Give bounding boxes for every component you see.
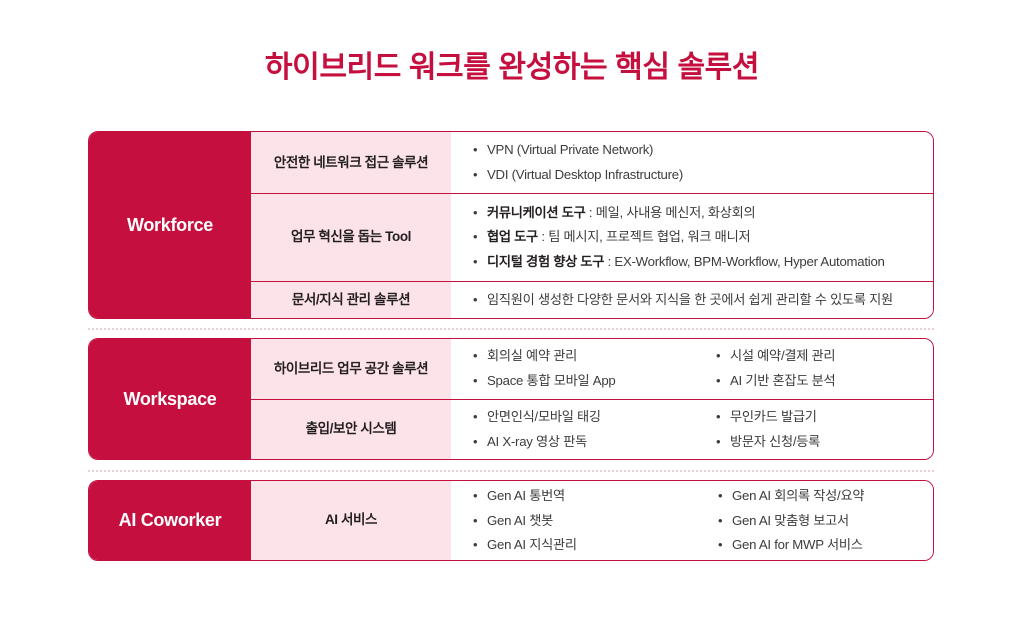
- bullet-dot-icon: •: [473, 141, 487, 160]
- row-items: •VPN (Virtual Private Network)•VDI (Virt…: [451, 132, 933, 193]
- row-category-label: AI 서비스: [251, 481, 451, 560]
- block-label: Workforce: [89, 132, 251, 318]
- bullet-item: •무인카드 발급기: [716, 407, 820, 427]
- bullet-text-rest: : EX-Workflow, BPM-Workflow, Hyper Autom…: [604, 254, 884, 269]
- bullet-column: •시설 예약/결제 관리•AI 기반 혼잡도 분석: [694, 346, 835, 391]
- bullet-column: •VPN (Virtual Private Network)•VDI (Virt…: [451, 140, 933, 185]
- bullet-dot-icon: •: [473, 291, 487, 310]
- bullet-dot-icon: •: [473, 487, 487, 506]
- bullet-item: •협업 도구 : 팀 메시지, 프로젝트 협업, 워크 매니저: [473, 227, 933, 247]
- bullet-item: •임직원이 생성한 다양한 문서와 지식을 한 곳에서 쉽게 관리할 수 있도록…: [473, 290, 933, 310]
- row-category-label: 문서/지식 관리 솔루션: [251, 282, 451, 318]
- slide-canvas: 하이브리드 워크를 완성하는 핵심 솔루션 Workforce안전한 네트워크 …: [0, 0, 1024, 618]
- solution-row: 업무 혁신을 돕는 Tool•커뮤니케이션 도구 : 메일, 사내용 메신저, …: [251, 193, 933, 280]
- bullet-dot-icon: •: [473, 204, 487, 223]
- bullet-dot-icon: •: [473, 166, 487, 185]
- row-category-label: 업무 혁신을 돕는 Tool: [251, 194, 451, 280]
- bullet-text: 무인카드 발급기: [730, 407, 817, 426]
- row-items: •커뮤니케이션 도구 : 메일, 사내용 메신저, 화상회의•협업 도구 : 팀…: [451, 194, 933, 280]
- block-label: Workspace: [89, 339, 251, 459]
- bullet-item: •Gen AI for MWP 서비스: [718, 535, 864, 555]
- bullet-text: Gen AI 챗봇: [487, 511, 553, 530]
- block-label: AI Coworker: [89, 481, 251, 560]
- bullet-text-rest: : 팀 메시지, 프로젝트 협업, 워크 매니저: [538, 229, 750, 244]
- solution-row: 하이브리드 업무 공간 솔루션•회의실 예약 관리•Space 통합 모바일 A…: [251, 339, 933, 399]
- bullet-text: 임직원이 생성한 다양한 문서와 지식을 한 곳에서 쉽게 관리할 수 있도록 …: [487, 290, 893, 309]
- block-rows: AI 서비스•Gen AI 통번역•Gen AI 챗봇•Gen AI 지식관리•…: [251, 481, 933, 560]
- block-rows: 안전한 네트워크 접근 솔루션•VPN (Virtual Private Net…: [251, 132, 933, 318]
- bullet-text: 안면인식/모바일 태깅: [487, 407, 601, 426]
- bullet-item: •시설 예약/결제 관리: [716, 346, 835, 366]
- bullet-dot-icon: •: [716, 433, 730, 452]
- bullet-text-bold: 디지털 경험 향상 도구: [487, 254, 604, 269]
- bullet-item: •안면인식/모바일 태깅: [473, 407, 694, 427]
- bullet-dot-icon: •: [718, 536, 732, 555]
- bullet-dot-icon: •: [718, 512, 732, 531]
- bullet-text: Gen AI for MWP 서비스: [732, 535, 863, 554]
- bullet-column: •안면인식/모바일 태깅•AI X-ray 영상 판독: [451, 407, 694, 452]
- bullet-text-bold: 협업 도구: [487, 229, 538, 244]
- solution-block-ai-coworker: AI CoworkerAI 서비스•Gen AI 통번역•Gen AI 챗봇•G…: [88, 480, 934, 561]
- bullet-dot-icon: •: [716, 347, 730, 366]
- page-title: 하이브리드 워크를 완성하는 핵심 솔루션: [0, 42, 1024, 86]
- bullet-item: •커뮤니케이션 도구 : 메일, 사내용 메신저, 화상회의: [473, 203, 933, 223]
- bullet-dot-icon: •: [716, 408, 730, 427]
- bullet-dot-icon: •: [473, 253, 487, 272]
- bullet-text: AI 기반 혼잡도 분석: [730, 371, 835, 390]
- bullet-dot-icon: •: [716, 372, 730, 391]
- bullet-text: 디지털 경험 향상 도구 : EX-Workflow, BPM-Workflow…: [487, 252, 885, 271]
- bullet-text: VPN (Virtual Private Network): [487, 140, 653, 159]
- solution-row: 안전한 네트워크 접근 솔루션•VPN (Virtual Private Net…: [251, 132, 933, 193]
- bullet-item: •Space 통합 모바일 App: [473, 371, 694, 391]
- bullet-dot-icon: •: [473, 408, 487, 427]
- bullet-text: 커뮤니케이션 도구 : 메일, 사내용 메신저, 화상회의: [487, 203, 755, 222]
- row-items: •안면인식/모바일 태깅•AI X-ray 영상 판독•무인카드 발급기•방문자…: [451, 400, 933, 460]
- block-rows: 하이브리드 업무 공간 솔루션•회의실 예약 관리•Space 통합 모바일 A…: [251, 339, 933, 459]
- bullet-item: •AI 기반 혼잡도 분석: [716, 371, 835, 391]
- bullet-item: •VDI (Virtual Desktop Infrastructure): [473, 165, 933, 185]
- bullet-text-rest: : 메일, 사내용 메신저, 화상회의: [585, 205, 755, 220]
- solution-block-workspace: Workspace하이브리드 업무 공간 솔루션•회의실 예약 관리•Space…: [88, 338, 934, 460]
- bullet-text: 시설 예약/결제 관리: [730, 346, 835, 365]
- solution-row: 출입/보안 시스템•안면인식/모바일 태깅•AI X-ray 영상 판독•무인카…: [251, 399, 933, 460]
- bullet-text: Space 통합 모바일 App: [487, 371, 616, 390]
- block-separator: [88, 328, 934, 330]
- row-category-label: 출입/보안 시스템: [251, 400, 451, 460]
- solution-block-workforce: Workforce안전한 네트워크 접근 솔루션•VPN (Virtual Pr…: [88, 131, 934, 319]
- bullet-dot-icon: •: [473, 372, 487, 391]
- row-items: •임직원이 생성한 다양한 문서와 지식을 한 곳에서 쉽게 관리할 수 있도록…: [451, 282, 933, 318]
- bullet-text: 방문자 신청/등록: [730, 432, 820, 451]
- bullet-column: •Gen AI 회의록 작성/요약•Gen AI 맞춤형 보고서•Gen AI …: [696, 486, 864, 556]
- bullet-item: •Gen AI 통번역: [473, 486, 696, 506]
- bullet-text: AI X-ray 영상 판독: [487, 432, 587, 451]
- bullet-item: •디지털 경험 향상 도구 : EX-Workflow, BPM-Workflo…: [473, 252, 933, 272]
- solution-row: AI 서비스•Gen AI 통번역•Gen AI 챗봇•Gen AI 지식관리•…: [251, 481, 933, 560]
- bullet-column: •커뮤니케이션 도구 : 메일, 사내용 메신저, 화상회의•협업 도구 : 팀…: [451, 203, 933, 273]
- bullet-item: •VPN (Virtual Private Network): [473, 140, 933, 160]
- bullet-column: •무인카드 발급기•방문자 신청/등록: [694, 407, 820, 452]
- bullet-item: •회의실 예약 관리: [473, 346, 694, 366]
- row-category-label: 안전한 네트워크 접근 솔루션: [251, 132, 451, 193]
- bullet-dot-icon: •: [473, 347, 487, 366]
- block-separator: [88, 470, 934, 472]
- row-items: •회의실 예약 관리•Space 통합 모바일 App•시설 예약/결제 관리•…: [451, 339, 933, 399]
- bullet-text: 회의실 예약 관리: [487, 346, 577, 365]
- bullet-item: •Gen AI 지식관리: [473, 535, 696, 555]
- row-items: •Gen AI 통번역•Gen AI 챗봇•Gen AI 지식관리•Gen AI…: [451, 481, 933, 560]
- solution-row: 문서/지식 관리 솔루션•임직원이 생성한 다양한 문서와 지식을 한 곳에서 …: [251, 281, 933, 318]
- bullet-item: •Gen AI 회의록 작성/요약: [718, 486, 864, 506]
- bullet-text: Gen AI 맞춤형 보고서: [732, 511, 849, 530]
- bullet-text: Gen AI 회의록 작성/요약: [732, 486, 864, 505]
- bullet-column: •임직원이 생성한 다양한 문서와 지식을 한 곳에서 쉽게 관리할 수 있도록…: [451, 290, 933, 310]
- bullet-text: Gen AI 지식관리: [487, 535, 577, 554]
- bullet-dot-icon: •: [473, 433, 487, 452]
- bullet-text-bold: 커뮤니케이션 도구: [487, 205, 585, 220]
- bullet-dot-icon: •: [473, 536, 487, 555]
- bullet-dot-icon: •: [718, 487, 732, 506]
- bullet-item: •AI X-ray 영상 판독: [473, 432, 694, 452]
- bullet-text: Gen AI 통번역: [487, 486, 565, 505]
- bullet-item: •Gen AI 맞춤형 보고서: [718, 511, 864, 531]
- bullet-text: 협업 도구 : 팀 메시지, 프로젝트 협업, 워크 매니저: [487, 227, 750, 246]
- bullet-item: •Gen AI 챗봇: [473, 511, 696, 531]
- bullet-column: •회의실 예약 관리•Space 통합 모바일 App: [451, 346, 694, 391]
- bullet-text: VDI (Virtual Desktop Infrastructure): [487, 165, 683, 184]
- bullet-dot-icon: •: [473, 512, 487, 531]
- bullet-dot-icon: •: [473, 228, 487, 247]
- bullet-item: •방문자 신청/등록: [716, 432, 820, 452]
- row-category-label: 하이브리드 업무 공간 솔루션: [251, 339, 451, 399]
- bullet-column: •Gen AI 통번역•Gen AI 챗봇•Gen AI 지식관리: [451, 486, 696, 556]
